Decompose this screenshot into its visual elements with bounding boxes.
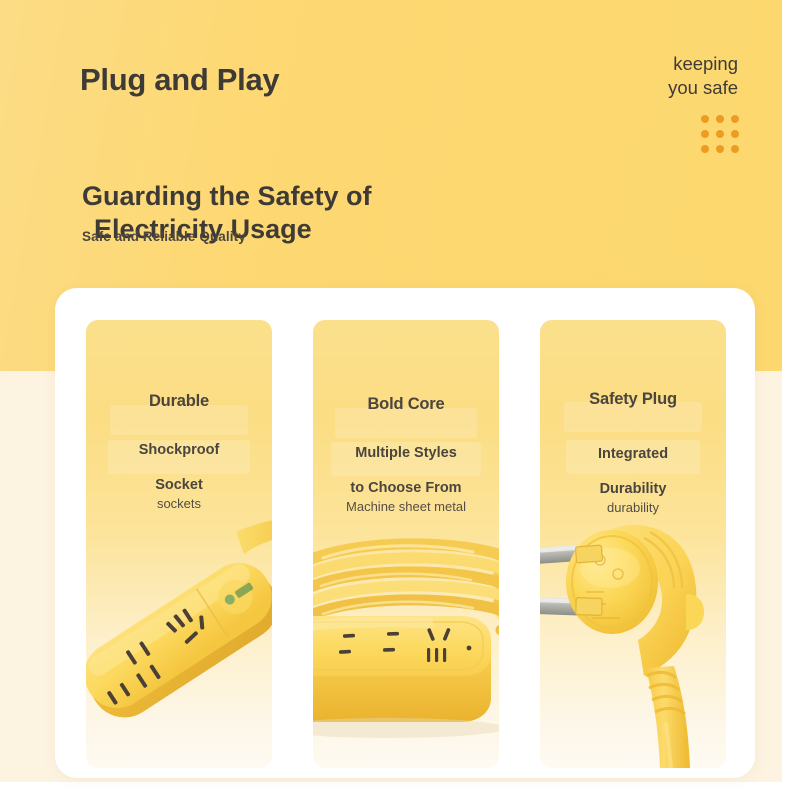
feature-card-subtitle-line2: to Choose From bbox=[350, 480, 461, 496]
dot-icon bbox=[701, 145, 709, 153]
feature-card-subtitle-line2: Socket bbox=[155, 477, 203, 493]
brand-note-line2: you safe bbox=[668, 76, 738, 100]
brand-note-line1: keeping bbox=[668, 52, 738, 76]
feature-card-subtitle: Multiple Styles to Choose From bbox=[313, 428, 499, 498]
feature-card[interactable]: Durable Shockproof Socket sockets bbox=[86, 320, 272, 768]
feature-card-caption: durability bbox=[540, 500, 726, 515]
feature-card-title: Safety Plug bbox=[540, 390, 726, 409]
feature-card-subtitle: Integrated Durability bbox=[540, 429, 726, 499]
feature-card[interactable]: Bold Core Multiple Styles to Choose From… bbox=[313, 320, 499, 768]
feature-card-caption: sockets bbox=[86, 496, 272, 511]
page-subtitle-line1: Guarding the Safety of bbox=[82, 181, 372, 211]
feature-card-text: Durable Shockproof Socket sockets bbox=[86, 320, 272, 511]
feature-card-text: Bold Core Multiple Styles to Choose From… bbox=[313, 320, 499, 514]
feature-card-subtitle-line1: Shockproof bbox=[139, 442, 220, 458]
poster-root: Plug and Play Guarding the Safety of Ele… bbox=[0, 0, 800, 800]
page-title: Plug and Play bbox=[80, 62, 620, 98]
frame-bottom-edge bbox=[0, 782, 800, 800]
dot-icon bbox=[716, 130, 724, 138]
feature-card-text: Safety Plug Integrated Durability durabi… bbox=[540, 320, 726, 515]
two-pin-plug-image bbox=[540, 508, 726, 768]
page-subtitle: Guarding the Safety of Electricity Usage bbox=[82, 147, 642, 279]
feature-card-list: Durable Shockproof Socket sockets bbox=[86, 320, 726, 768]
headline-block: Plug and Play bbox=[80, 62, 620, 98]
feature-card-subtitle-line1: Integrated bbox=[598, 446, 668, 462]
feature-card-subtitle: Shockproof Socket bbox=[86, 425, 272, 495]
frame-right-edge bbox=[782, 0, 800, 800]
dot-icon bbox=[716, 115, 724, 123]
feature-card[interactable]: Safety Plug Integrated Durability durabi… bbox=[540, 320, 726, 768]
dot-icon bbox=[731, 115, 739, 123]
dot-icon bbox=[731, 130, 739, 138]
dot-icon bbox=[716, 145, 724, 153]
dot-icon bbox=[731, 145, 739, 153]
dot-icon bbox=[701, 115, 709, 123]
dot-grid-decoration bbox=[701, 115, 739, 153]
feature-card-title: Durable bbox=[86, 392, 272, 411]
feature-card-subtitle-line1: Multiple Styles bbox=[355, 445, 457, 461]
tagline: Safe and Reliable Quality bbox=[82, 229, 246, 244]
dot-icon bbox=[701, 130, 709, 138]
feature-card-subtitle-line2: Durability bbox=[600, 481, 667, 497]
power-strip-coiled-cable-image bbox=[313, 508, 499, 768]
brand-note: keeping you safe bbox=[668, 52, 738, 101]
power-strip-angled-image bbox=[86, 508, 272, 768]
feature-card-caption: Machine sheet metal bbox=[313, 499, 499, 514]
feature-card-title: Bold Core bbox=[313, 395, 499, 414]
